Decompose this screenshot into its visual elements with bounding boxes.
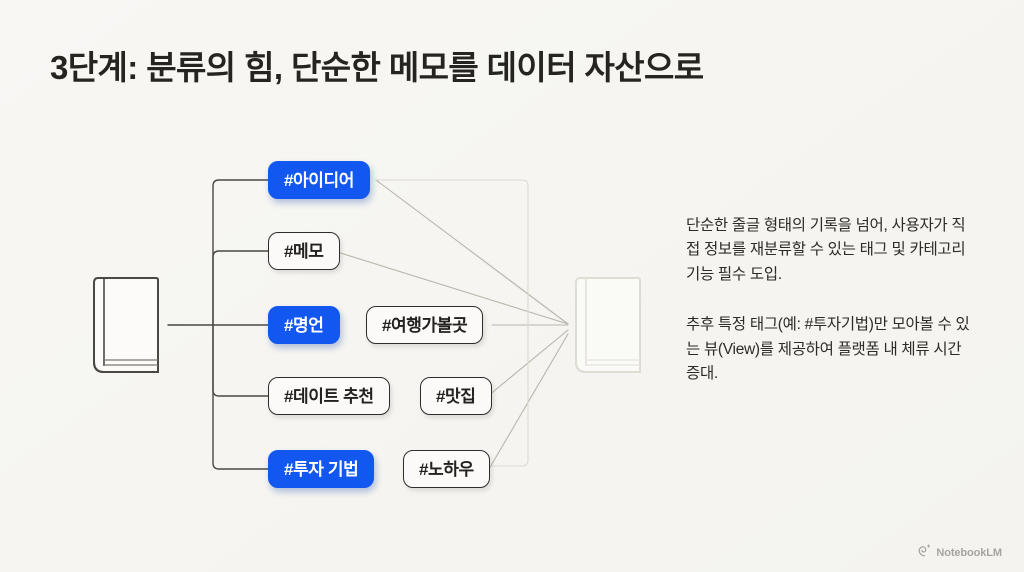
slide-canvas: 3단계: 분류의 힘, 단순한 메모를 데이터 자산으로 [0,0,1024,572]
watermark: NotebookLM [918,544,1002,562]
tag-chip-food[interactable]: #맛집 [420,377,492,415]
note-paragraph-1: 단순한 줄글 형태의 기록을 넘어, 사용자가 직접 정보를 재분류할 수 있는… [686,214,976,287]
tag-chip-quote[interactable]: #명언 [268,306,340,344]
watermark-label: NotebookLM [936,547,1002,559]
notes-panel: 단순한 줄글 형태의 기록을 넘어, 사용자가 직접 정보를 재분류할 수 있는… [686,214,976,387]
tag-chip-knowhow[interactable]: #노하우 [403,450,490,488]
tag-chip-travel[interactable]: #여행가볼곳 [366,306,483,344]
tag-chip-date-recommendation[interactable]: #데이트 추천 [268,377,390,415]
target-book-icon [570,272,650,383]
tag-chip-idea[interactable]: #아이디어 [268,161,370,199]
tag-chip-investment[interactable]: #투자 기법 [268,450,374,488]
note-paragraph-2: 추후 특정 태그(예: #투자기법)만 모아볼 수 있는 뷰(View)를 제공… [686,313,976,386]
notebooklm-spiral-icon [918,544,931,562]
tag-chip-memo[interactable]: #메모 [268,232,340,270]
source-book-icon [88,272,168,383]
